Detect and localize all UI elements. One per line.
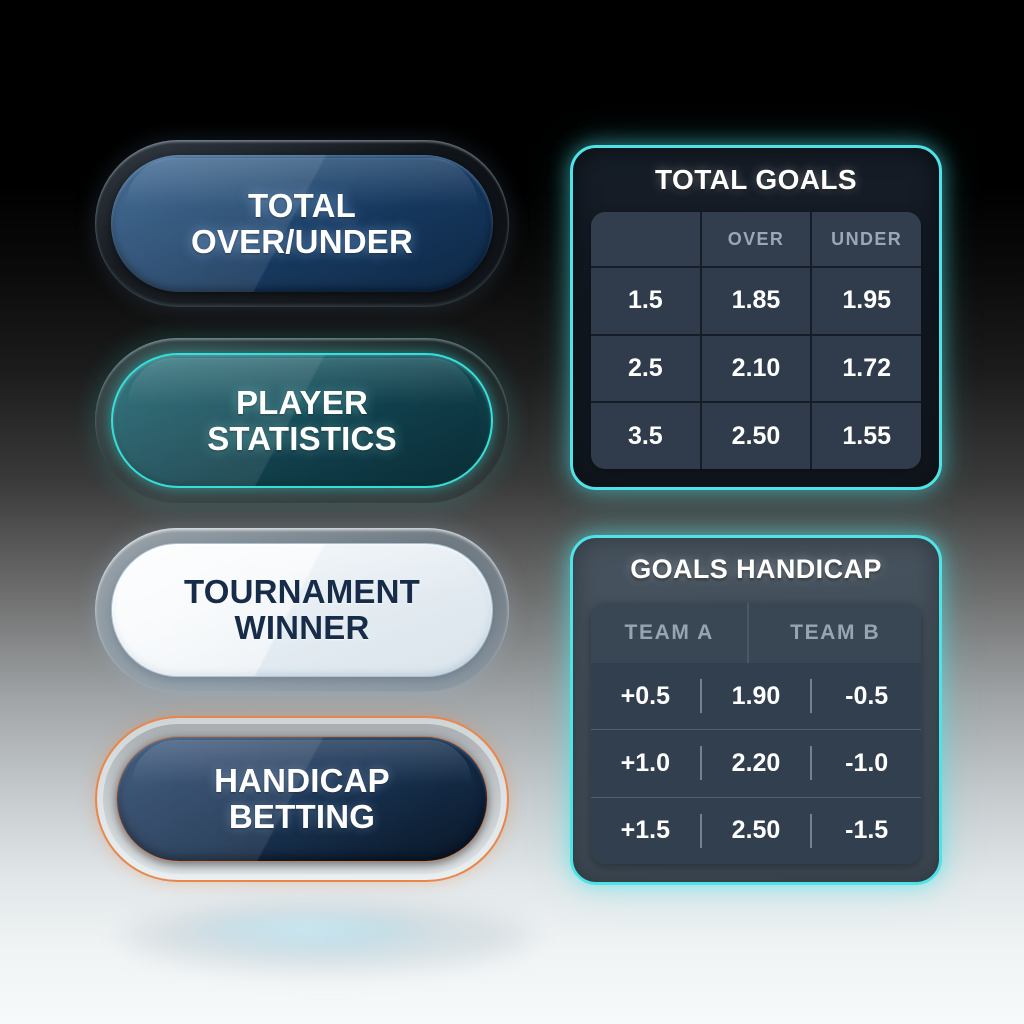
column-header-over: OVER [702, 212, 813, 266]
floor-highlight-glow [180, 912, 430, 946]
table-row[interactable]: +1.5 2.50 -1.5 [591, 798, 921, 864]
odds-table-goals-handicap: TEAM A TEAM B +0.5 1.90 -0.5 +1.0 2.20 -… [591, 603, 921, 864]
button-label: PLAYER STATISTICS [207, 385, 397, 456]
cell-over-odds[interactable]: 2.50 [702, 403, 813, 469]
button-label: HANDICAP BETTING [214, 763, 390, 834]
table-row[interactable]: +1.0 2.20 -1.0 [591, 730, 921, 797]
panel-title: TOTAL GOALS [591, 164, 921, 196]
cell-over-odds[interactable]: 1.85 [702, 268, 813, 334]
cell-over-odds[interactable]: 2.10 [702, 336, 813, 402]
button-outer-ring: PLAYER STATISTICS [95, 338, 509, 503]
column-header-team-a: TEAM A [591, 603, 749, 663]
button-inner-capsule: PLAYER STATISTICS [111, 353, 493, 488]
panel-title: GOALS HANDICAP [591, 554, 921, 585]
panel-total-goals: TOTAL GOALS OVER UNDER 1.5 1.85 1.95 2.5… [570, 145, 942, 490]
floor-shadow-glow [118, 900, 538, 974]
cell-odds[interactable]: 2.20 [702, 749, 811, 778]
panel-goals-handicap: GOALS HANDICAP TEAM A TEAM B +0.5 1.90 -… [570, 535, 942, 885]
button-tournament-winner[interactable]: TOURNAMENT WINNER [95, 528, 509, 692]
cell-team-b-handicap[interactable]: -0.5 [812, 682, 921, 711]
cell-team-a-handicap[interactable]: +1.0 [591, 749, 700, 778]
cell-team-b-handicap[interactable]: -1.0 [812, 749, 921, 778]
table-header-row: TEAM A TEAM B [591, 603, 921, 663]
cell-line: 3.5 [591, 403, 702, 469]
cell-odds[interactable]: 1.90 [702, 682, 811, 711]
table-row[interactable]: +0.5 1.90 -0.5 [591, 663, 921, 730]
cell-under-odds[interactable]: 1.72 [812, 336, 921, 402]
cell-line: 1.5 [591, 268, 702, 334]
column-header-line [591, 212, 702, 266]
button-outer-ring: TOURNAMENT WINNER [95, 528, 509, 692]
table-row[interactable]: 3.5 2.50 1.55 [591, 403, 921, 469]
table-row[interactable]: 2.5 2.10 1.72 [591, 336, 921, 404]
button-handicap-betting[interactable]: HANDICAP BETTING [95, 716, 509, 882]
cell-under-odds[interactable]: 1.95 [812, 268, 921, 334]
cell-under-odds[interactable]: 1.55 [812, 403, 921, 469]
column-header-team-b: TEAM B [749, 603, 921, 663]
button-inner-capsule: TOTAL OVER/UNDER [111, 155, 493, 292]
cell-team-a-handicap[interactable]: +0.5 [591, 682, 700, 711]
cell-line: 2.5 [591, 336, 702, 402]
button-player-statistics[interactable]: PLAYER STATISTICS [95, 338, 509, 503]
betting-markets-board: TOTAL OVER/UNDER PLAYER STATISTICS TOURN… [0, 0, 1024, 1024]
button-total-over-under[interactable]: TOTAL OVER/UNDER [95, 140, 509, 307]
cell-team-a-handicap[interactable]: +1.5 [591, 816, 700, 845]
button-label: TOURNAMENT WINNER [184, 574, 420, 645]
button-inner-capsule: HANDICAP BETTING [116, 736, 488, 862]
column-header-under: UNDER [812, 212, 921, 266]
table-row[interactable]: 1.5 1.85 1.95 [591, 268, 921, 336]
cell-odds[interactable]: 2.50 [702, 816, 811, 845]
cell-team-b-handicap[interactable]: -1.5 [812, 816, 921, 845]
button-inner-capsule: TOURNAMENT WINNER [111, 543, 493, 677]
button-outer-ring: TOTAL OVER/UNDER [95, 140, 509, 307]
button-outer-ring: HANDICAP BETTING [95, 716, 509, 882]
table-header-row: OVER UNDER [591, 212, 921, 268]
odds-table-total-goals: OVER UNDER 1.5 1.85 1.95 2.5 2.10 1.72 3… [591, 212, 921, 469]
button-label: TOTAL OVER/UNDER [191, 188, 413, 259]
